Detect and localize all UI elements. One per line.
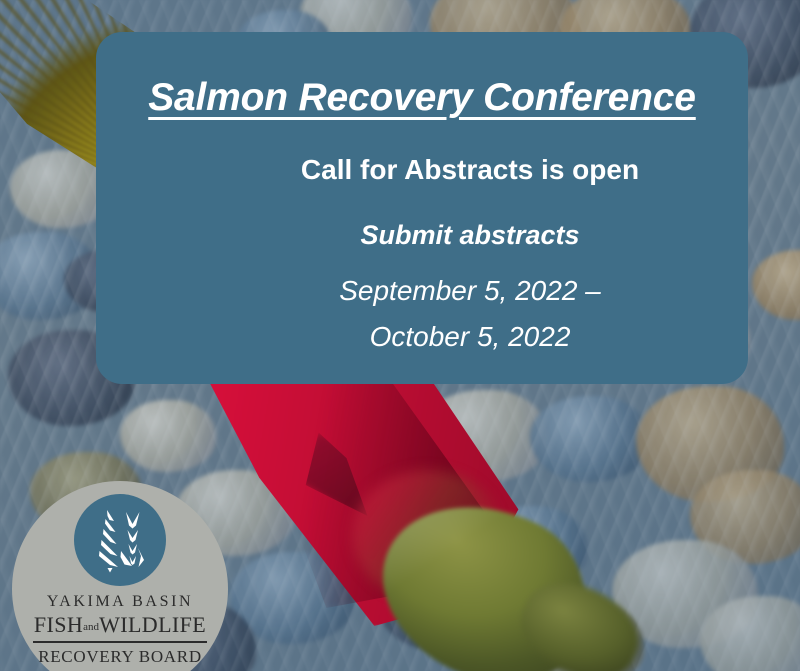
announcement-panel: Salmon Recovery Conference Call for Abst… [96, 32, 748, 384]
submission-window: September 5, 2022 – October 5, 2022 [200, 268, 740, 360]
logo-line-3: RECOVERY BOARD [12, 645, 228, 669]
submission-end-date: October 5, 2022 [200, 314, 740, 360]
logo-wordmark: YAKIMA BASIN FISHandWILDLIFE RECOVERY BO… [12, 591, 228, 669]
poster-title: Salmon Recovery Conference [96, 76, 748, 120]
logo-fish-word: FISH [34, 612, 83, 637]
logo-and-word: and [83, 621, 99, 633]
tree-and-fish-emblem-icon [74, 494, 166, 586]
logo-line-1: YAKIMA BASIN [12, 591, 228, 612]
salmon-recovery-conference-poster: Salmon Recovery Conference Call for Abst… [0, 0, 800, 671]
logo-line-2: FISHandWILDLIFE [33, 612, 207, 643]
logo-wildlife-word: WILDLIFE [99, 612, 206, 637]
submit-abstracts-heading: Submit abstracts [200, 220, 740, 251]
submission-start-date: September 5, 2022 – [200, 268, 740, 314]
poster-subtitle: Call for Abstracts is open [200, 154, 740, 186]
